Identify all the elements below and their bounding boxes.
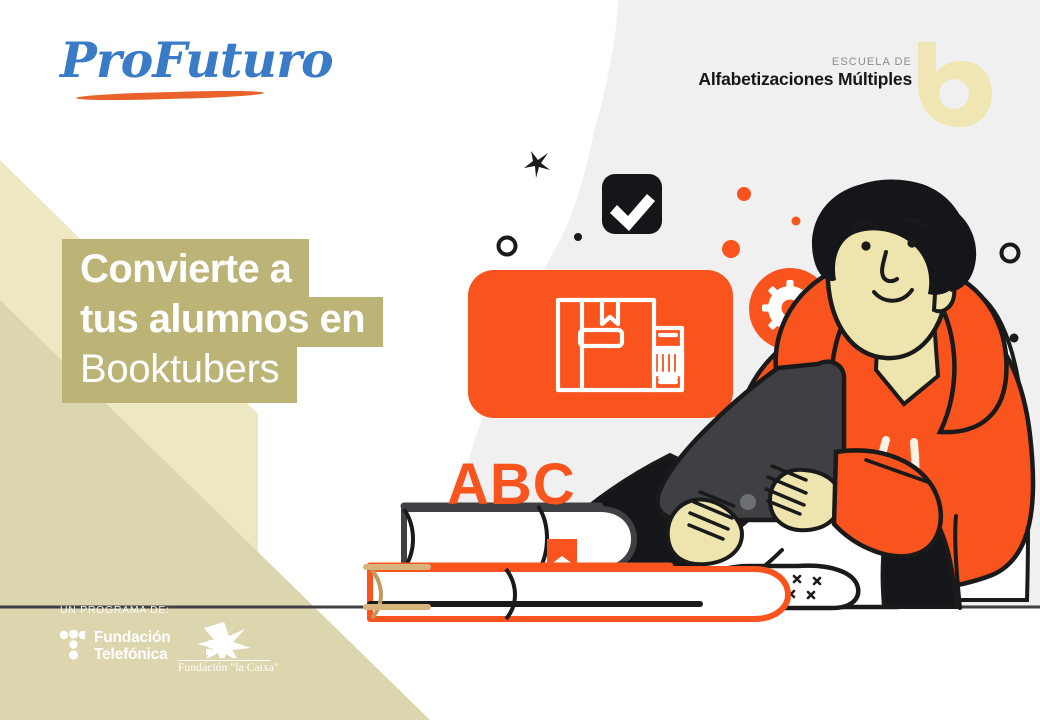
footer-label: UN PROGRAMA DE: xyxy=(60,604,170,616)
orange-dot-icon xyxy=(722,240,740,258)
orange-dot-icon xyxy=(792,217,801,226)
check-badge xyxy=(602,174,662,234)
telefonica-dots-icon xyxy=(59,630,85,664)
eye-right xyxy=(907,238,916,247)
sponsor-telefonica[interactable]: Fundación Telefónica xyxy=(59,630,171,664)
eye-left xyxy=(861,241,870,250)
dot-icon xyxy=(1010,334,1019,343)
profuturo-logo[interactable]: ProFuturo xyxy=(60,36,333,85)
caixa-rule xyxy=(178,660,270,661)
books-card xyxy=(468,270,733,418)
headline-line-2: tus alumnos en xyxy=(62,297,383,347)
orange-dot-icon xyxy=(737,187,751,201)
sponsor-caixa[interactable]: Fundación "la Caixa" xyxy=(178,620,270,674)
telefonica-line-2: Telefónica xyxy=(94,647,171,664)
abc-label: ABC xyxy=(447,456,576,514)
caixa-star-icon xyxy=(178,620,270,658)
dot-icon xyxy=(574,233,582,241)
ring-icon xyxy=(1002,245,1019,262)
tablet-button xyxy=(740,494,756,510)
school-eyebrow: ESCUELA DE xyxy=(698,56,912,68)
book-bottom xyxy=(366,566,788,619)
headline-line-3: Booktubers xyxy=(62,347,297,403)
headline-block: Convierte a tus alumnos en Booktubers xyxy=(62,239,383,403)
headline-line-1: Convierte a xyxy=(62,239,309,297)
ring-icon xyxy=(499,238,516,255)
school-badge: ESCUELA DE Alfabetizaciones Múltiples xyxy=(698,56,912,89)
telefonica-line-1: Fundación xyxy=(94,630,171,647)
sparkle-x-icon xyxy=(524,151,550,178)
caixa-caption: Fundación "la Caixa" xyxy=(178,662,270,674)
slide-canvas: ProFuturo ESCUELA DE Alfabetizaciones Mú… xyxy=(0,0,1040,720)
telefonica-wordmark: Fundación Telefónica xyxy=(94,630,171,663)
b-monogram-icon xyxy=(900,36,992,128)
school-name: Alfabetizaciones Múltiples xyxy=(698,70,912,89)
